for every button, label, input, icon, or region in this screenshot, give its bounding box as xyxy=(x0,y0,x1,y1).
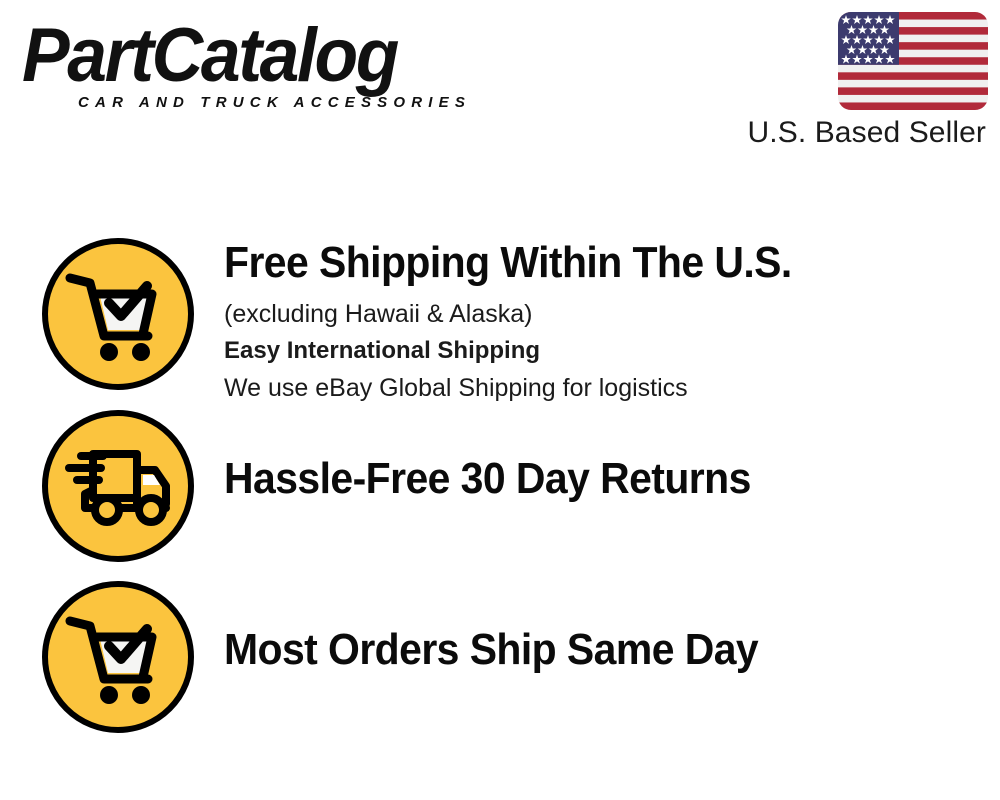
brand-logo[interactable]: PartCatalog CAR AND TRUCK ACCESSORIES xyxy=(22,16,492,116)
brand-wordmark: PartCatalog xyxy=(22,16,397,96)
feature-subtext-group: (excluding Hawaii & Alaska) Easy Interna… xyxy=(224,296,982,406)
shopping-cart-check-icon xyxy=(42,581,194,733)
feature-heading: Most Orders Ship Same Day xyxy=(224,625,929,675)
us-flag-icon xyxy=(838,12,988,110)
shopping-cart-check-icon xyxy=(42,238,194,390)
feature-subline: (excluding Hawaii & Alaska) xyxy=(224,296,982,332)
feature-subline: We use eBay Global Shipping for logistic… xyxy=(224,370,982,406)
feature-item: Most Orders Ship Same Day xyxy=(42,581,982,733)
feature-text: Most Orders Ship Same Day xyxy=(194,581,982,675)
feature-heading: Hassle-Free 30 Day Returns xyxy=(224,454,929,504)
feature-heading: Free Shipping Within The U.S. xyxy=(224,238,929,288)
feature-item: Hassle-Free 30 Day Returns xyxy=(42,410,982,562)
feature-subline-bold: Easy International Shipping xyxy=(224,332,982,370)
seller-note: U.S. Based Seller xyxy=(748,116,986,150)
page-header: PartCatalog CAR AND TRUCK ACCESSORIES xyxy=(0,0,1000,170)
brand-tagline: CAR AND TRUCK ACCESSORIES xyxy=(78,94,471,111)
feature-item: Free Shipping Within The U.S. (excluding… xyxy=(42,238,982,406)
feature-text: Hassle-Free 30 Day Returns xyxy=(194,410,982,504)
delivery-truck-icon xyxy=(42,410,194,562)
feature-text: Free Shipping Within The U.S. (excluding… xyxy=(194,238,982,406)
